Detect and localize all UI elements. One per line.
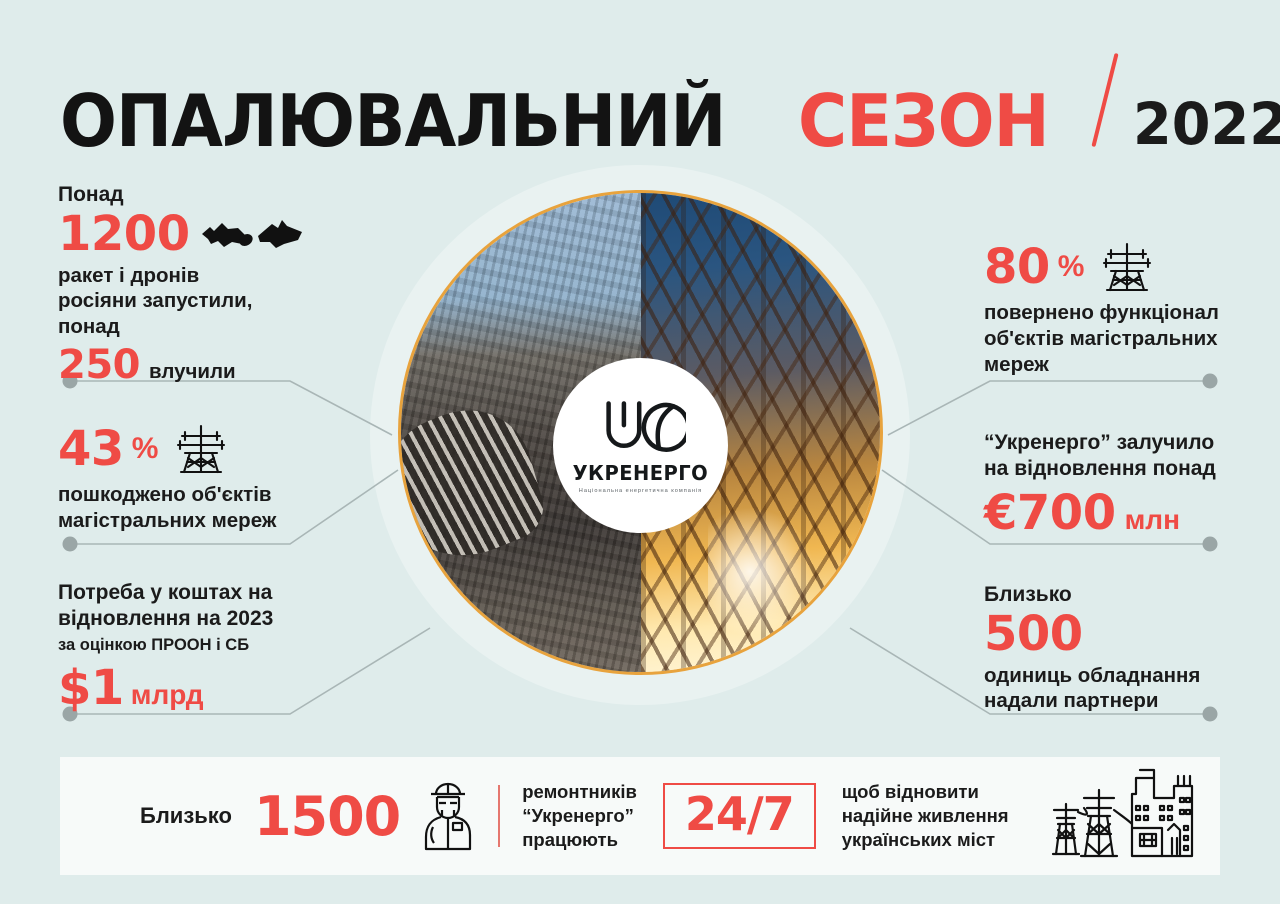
stat-body-secondary: влучили	[149, 359, 236, 385]
stat-value: 1200	[58, 210, 190, 259]
stat-block-funding-need: Потреба у коштах на відновлення на 2023 …	[58, 580, 388, 713]
stat-unit: млрд	[131, 679, 204, 711]
stat-note: за оцінкою ПРООН і СБ	[58, 635, 388, 656]
bottom-text-purpose: щоб відновити надійне живлення українськ…	[842, 780, 1009, 852]
stat-unit: млн	[1125, 504, 1180, 536]
missile-drone-icons	[198, 214, 306, 254]
season-years: 2022/2023	[1133, 97, 1280, 154]
city-power-grid-icon	[1044, 768, 1194, 864]
power-tower-icon	[1098, 240, 1156, 294]
badge-24-7: 24/7	[663, 783, 816, 849]
stat-block-damaged: 43 % пошкоджено об'єктів магістральних м…	[58, 422, 388, 534]
stat-body: ракет і дронів росіяни запустили, понад	[58, 263, 388, 340]
missile-icon	[202, 223, 255, 248]
stat-value: 500	[984, 610, 1280, 659]
stat-block-restored: 80 % повернено функціонал об'єктів магіс…	[984, 240, 1280, 377]
stat-lead: “Укренерго” залучило на відновлення пона…	[984, 430, 1280, 481]
stat-lead: Понад	[58, 182, 388, 208]
stat-value: €700	[984, 489, 1116, 538]
stat-block-missiles: Понад 1200 ракет і дронів росіяни запуст…	[58, 182, 388, 386]
title-word-black: ОПАЛЮВАЛЬНИЙ	[60, 88, 725, 154]
bottom-label: Близько	[140, 803, 232, 829]
stat-body: повернено функціонал об'єктів магістраль…	[984, 300, 1280, 377]
infographic-canvas: ОПАЛЮВАЛЬНИЙ СЕЗОН 2022/2023	[0, 0, 1280, 904]
stat-unit: %	[1058, 250, 1085, 284]
bottom-count: 1500	[254, 785, 400, 848]
stat-value-secondary: 250	[58, 345, 140, 386]
ukrenergo-logo-badge: УКРЕНЕРГО Національна енергетична компан…	[553, 358, 728, 533]
stat-lead: Близько	[984, 582, 1280, 608]
stat-value: 80	[984, 243, 1050, 292]
bottom-text-workers: ремонтників “Укренерго” працюють	[522, 780, 637, 852]
title-slash-divider	[1092, 53, 1119, 147]
stat-block-raised-funds: “Укренерго” залучило на відновлення пона…	[984, 430, 1280, 538]
ukrenergo-logo-icon	[596, 397, 686, 455]
drone-icon	[258, 220, 302, 248]
stat-lead: Потреба у коштах на відновлення на 2023	[58, 580, 388, 631]
bottom-summary-bar: Близько 1500 ремонтників “Укренерго” пра…	[60, 757, 1220, 875]
logo-tagline: Національна енергетична компанія	[579, 488, 702, 494]
worker-icon	[420, 779, 476, 853]
stat-body: одиниць обладнання надали партнери	[984, 663, 1280, 715]
stat-value: $1	[58, 664, 124, 713]
stat-block-partner-equipment: Близько 500 одиниць обладнання надали па…	[984, 582, 1280, 714]
page-title: ОПАЛЮВАЛЬНИЙ СЕЗОН 2022/2023	[60, 52, 1280, 154]
bottom-divider-1	[498, 785, 500, 847]
stat-unit: %	[132, 432, 159, 466]
stat-body: пошкоджено об'єктів магістральних мереж	[58, 482, 388, 534]
stat-value: 43	[58, 425, 124, 474]
title-word-red: СЕЗОН	[798, 88, 1049, 154]
power-tower-icon	[172, 422, 230, 476]
logo-wordmark: УКРЕНЕРГО	[573, 461, 709, 485]
